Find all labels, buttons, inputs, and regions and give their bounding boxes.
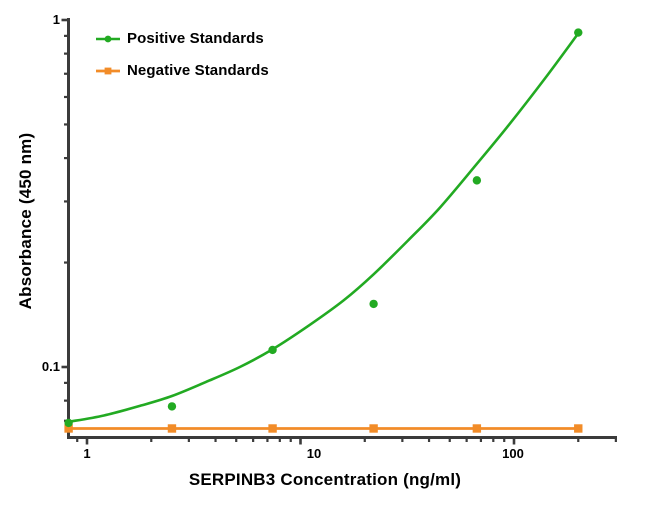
chart-figure: 1 0.1 1 10 100 SERPINB3 Concentration (n… [0, 0, 650, 505]
y-tick-label-1: 1 [26, 12, 60, 27]
positive-standards-curve [69, 33, 579, 421]
data-point [64, 419, 72, 427]
x-tick-label-100: 100 [490, 446, 536, 461]
data-point [473, 176, 481, 184]
legend-item-positive-standards: Positive Standards [95, 30, 264, 47]
x-axis-title: SERPINB3 Concentration (ng/ml) [0, 470, 650, 490]
data-point [574, 424, 582, 432]
circle-marker-icon [95, 32, 121, 46]
data-point [369, 300, 377, 308]
x-tick-label-1: 1 [67, 446, 107, 461]
data-point [574, 28, 582, 36]
square-marker-icon [95, 64, 121, 78]
data-point [168, 424, 176, 432]
legend-item-negative-standards: Negative Standards [95, 62, 269, 79]
data-point [473, 424, 481, 432]
axis-lines [67, 18, 617, 438]
legend-label-negative-standards: Negative Standards [127, 62, 269, 79]
data-point [168, 402, 176, 410]
data-point [369, 424, 377, 432]
data-point [268, 346, 276, 354]
y-tick-label-0.1: 0.1 [18, 359, 60, 374]
x-tick-label-10: 10 [294, 446, 334, 461]
data-point [268, 424, 276, 432]
positive-standards-markers [64, 28, 582, 427]
legend-label-positive-standards: Positive Standards [127, 30, 264, 47]
y-axis-title: Absorbance (450 nm) [16, 111, 36, 331]
